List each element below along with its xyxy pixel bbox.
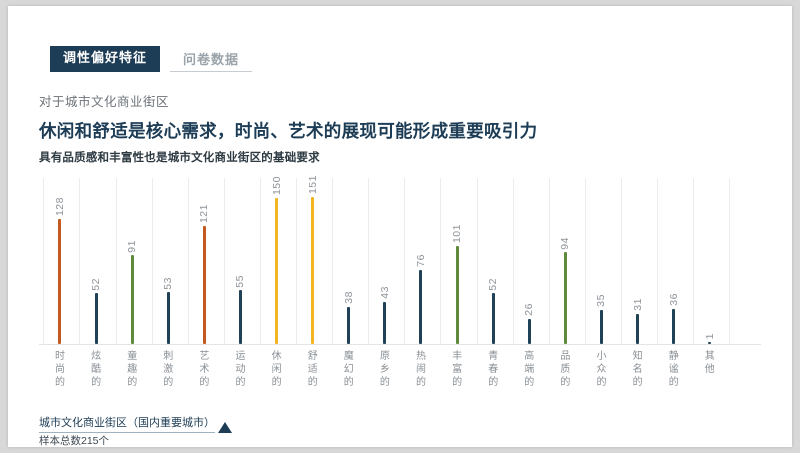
bar-value-label: 35 bbox=[595, 294, 607, 307]
bar-value-label: 38 bbox=[343, 291, 355, 304]
bar[interactable] bbox=[383, 302, 386, 344]
bar-column[interactable]: 35 bbox=[600, 178, 603, 344]
page-subtitle: 具有品质感和丰富性也是城市文化商业街区的基础要求 bbox=[39, 149, 320, 165]
bar[interactable] bbox=[203, 226, 206, 344]
bar-value-label: 76 bbox=[415, 254, 427, 267]
bar-value-label: 101 bbox=[451, 224, 463, 243]
x-axis-label: 魔幻的 bbox=[338, 350, 360, 389]
bar[interactable] bbox=[528, 319, 531, 344]
bar-column[interactable]: 36 bbox=[672, 178, 675, 344]
bar-value-label: 128 bbox=[54, 197, 66, 216]
tab-bar: 调性偏好特征 问卷数据 bbox=[50, 46, 252, 72]
bar[interactable] bbox=[347, 307, 350, 344]
bar[interactable] bbox=[456, 246, 459, 344]
bar-value-label: 121 bbox=[198, 204, 210, 223]
bar-column[interactable]: 38 bbox=[347, 178, 350, 344]
bar[interactable] bbox=[492, 293, 495, 344]
chart-legend[interactable]: 城市文化商业街区（国内重要城市） bbox=[39, 414, 232, 433]
bar[interactable] bbox=[672, 309, 675, 344]
bar-value-label: 52 bbox=[487, 278, 499, 291]
bar-column[interactable]: 150 bbox=[275, 178, 278, 344]
bar-column[interactable]: 1 bbox=[708, 178, 711, 344]
tab-questionnaire-data[interactable]: 问卷数据 bbox=[170, 48, 252, 72]
bar-column[interactable]: 76 bbox=[419, 178, 422, 344]
x-axis-label: 热闹的 bbox=[410, 350, 432, 389]
x-axis-label: 艺术的 bbox=[193, 350, 215, 389]
chart-baseline bbox=[39, 344, 761, 345]
x-axis-label: 舒适的 bbox=[302, 350, 324, 389]
bar-column[interactable]: 55 bbox=[239, 178, 242, 344]
bar-column[interactable]: 31 bbox=[636, 178, 639, 344]
page-title: 休闲和舒适是核心需求，时尚、艺术的展现可能形成重要吸引力 bbox=[39, 118, 537, 143]
bar-column[interactable]: 26 bbox=[528, 178, 531, 344]
bar-column[interactable]: 151 bbox=[311, 178, 314, 344]
bar-value-label: 26 bbox=[523, 303, 535, 316]
x-axis-label: 品质的 bbox=[554, 350, 576, 389]
bar[interactable] bbox=[58, 219, 61, 344]
bar-value-label: 52 bbox=[90, 278, 102, 291]
x-axis-label: 小众的 bbox=[590, 350, 612, 389]
tab-tonal-preference[interactable]: 调性偏好特征 bbox=[50, 46, 160, 72]
bar[interactable] bbox=[419, 270, 422, 344]
bar-value-label: 31 bbox=[632, 298, 644, 311]
bar-value-label: 91 bbox=[126, 240, 138, 253]
chart-x-axis-labels: 时尚的炫酷的童趣的刺激的艺术的运动的休闲的舒适的魔幻的原乡的热闹的丰富的青春的高… bbox=[39, 350, 761, 400]
bar[interactable] bbox=[239, 290, 242, 344]
bar[interactable] bbox=[167, 292, 170, 344]
bar-column[interactable]: 121 bbox=[203, 178, 206, 344]
x-axis-label: 丰富的 bbox=[446, 350, 468, 389]
bar[interactable] bbox=[95, 293, 98, 344]
x-axis-label: 休闲的 bbox=[266, 350, 288, 389]
x-axis-label: 高端的 bbox=[518, 350, 540, 389]
slide-canvas: 调性偏好特征 问卷数据 对于城市文化商业街区 休闲和舒适是核心需求，时尚、艺术的… bbox=[8, 6, 792, 447]
bar-value-label: 151 bbox=[307, 175, 319, 194]
bar-value-label: 43 bbox=[379, 286, 391, 299]
bar-value-label: 94 bbox=[559, 237, 571, 250]
bar-chart: 1285291531215515015138437610152269435313… bbox=[39, 178, 761, 344]
x-axis-label: 运动的 bbox=[229, 350, 251, 389]
bar-value-label: 36 bbox=[668, 293, 680, 306]
bar-value-label: 53 bbox=[162, 277, 174, 290]
bar[interactable] bbox=[131, 255, 134, 344]
bar-value-label: 1 bbox=[704, 333, 716, 339]
bar-value-label: 150 bbox=[271, 176, 283, 195]
x-axis-label: 静谧的 bbox=[663, 350, 685, 389]
x-axis-label: 童趣的 bbox=[121, 350, 143, 389]
legend-label: 城市文化商业街区（国内重要城市） bbox=[39, 414, 215, 433]
x-axis-label: 原乡的 bbox=[374, 350, 396, 389]
x-axis-label: 刺激的 bbox=[157, 350, 179, 389]
bar-column[interactable]: 128 bbox=[58, 178, 61, 344]
x-axis-label: 青春的 bbox=[482, 350, 504, 389]
bar-column[interactable]: 94 bbox=[564, 178, 567, 344]
bar-column[interactable]: 52 bbox=[95, 178, 98, 344]
x-axis-label: 时尚的 bbox=[49, 350, 71, 389]
sample-total-note: 样本总数215个 bbox=[39, 433, 109, 447]
bar[interactable] bbox=[636, 314, 639, 344]
x-axis-label: 炫酷的 bbox=[85, 350, 107, 389]
bar-value-label: 55 bbox=[234, 275, 246, 288]
bar-column[interactable]: 53 bbox=[167, 178, 170, 344]
bar-column[interactable]: 52 bbox=[492, 178, 495, 344]
triangle-up-icon bbox=[218, 422, 232, 433]
bar-column[interactable]: 91 bbox=[131, 178, 134, 344]
x-axis-label: 知名的 bbox=[627, 350, 649, 389]
bar[interactable] bbox=[600, 310, 603, 344]
bar-column[interactable]: 43 bbox=[383, 178, 386, 344]
bar-column[interactable]: 101 bbox=[456, 178, 459, 344]
bar[interactable] bbox=[311, 197, 314, 344]
chart-bars: 1285291531215515015138437610152269435313… bbox=[39, 178, 761, 344]
kicker-text: 对于城市文化商业街区 bbox=[39, 91, 169, 110]
bar[interactable] bbox=[564, 252, 567, 344]
x-axis-label: 其他 bbox=[699, 350, 721, 376]
bar[interactable] bbox=[275, 198, 278, 344]
